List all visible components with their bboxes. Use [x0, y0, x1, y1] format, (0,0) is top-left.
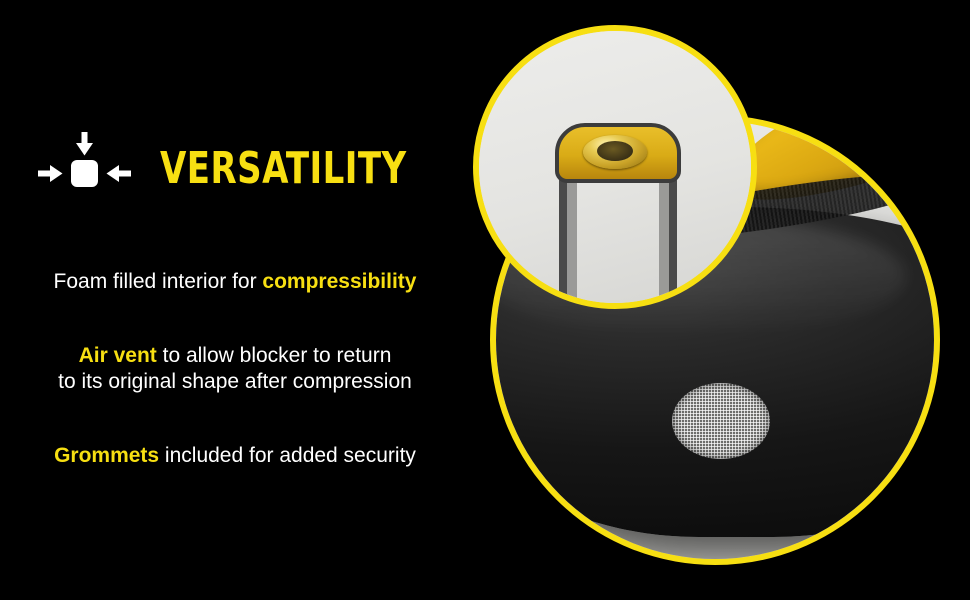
photo-panel — [455, 0, 970, 600]
feature-item-grommets: Grommets included for added security — [40, 416, 430, 470]
mesh-air-vent — [672, 383, 770, 459]
feature-text-highlight: compressibility — [262, 270, 416, 293]
product-feature-banner: VERSATILITY Foam filled interior for com… — [0, 0, 970, 600]
feature-text-suffix: included for added security — [159, 444, 416, 467]
text-panel: VERSATILITY Foam filled interior for com… — [0, 0, 470, 600]
feature-list: Foam filled interior for compressibility… — [0, 242, 470, 470]
feature-text-prefix: Foam filled interior for — [54, 270, 263, 293]
grommet-closeup-photo — [473, 25, 757, 309]
headline-row: VERSATILITY — [30, 130, 447, 208]
compress-arrows-icon — [30, 130, 138, 208]
feature-item-compressibility: Foam filled interior for compressibility — [40, 242, 431, 296]
page-title: VERSATILITY — [160, 147, 407, 191]
grommet-hole — [597, 141, 633, 161]
feature-text-highlight: Grommets — [54, 444, 159, 467]
feature-text-highlight: Air vent — [79, 344, 157, 367]
feature-item-air-vent: Air vent to allow blocker to return to i… — [44, 316, 426, 397]
